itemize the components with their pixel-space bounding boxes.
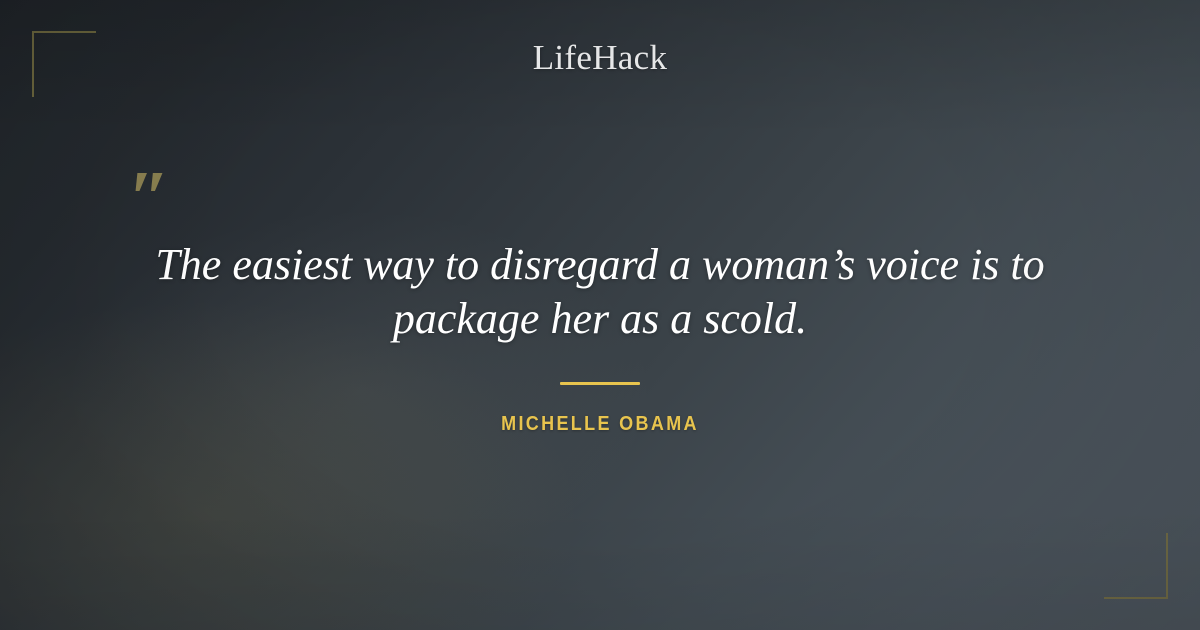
- lifehack-logo: LifeHack: [0, 40, 1200, 75]
- quote-text: The easiest way to disregard a woman’s v…: [100, 238, 1100, 346]
- quote-author: MICHELLE OBAMA: [60, 413, 1140, 436]
- quotation-mark-icon: ″: [128, 160, 168, 236]
- quote-card: LifeHack ″ The easiest way to disregard …: [0, 0, 1200, 630]
- gold-divider: [560, 382, 640, 385]
- corner-bracket-bottom-right-icon: [1104, 533, 1168, 599]
